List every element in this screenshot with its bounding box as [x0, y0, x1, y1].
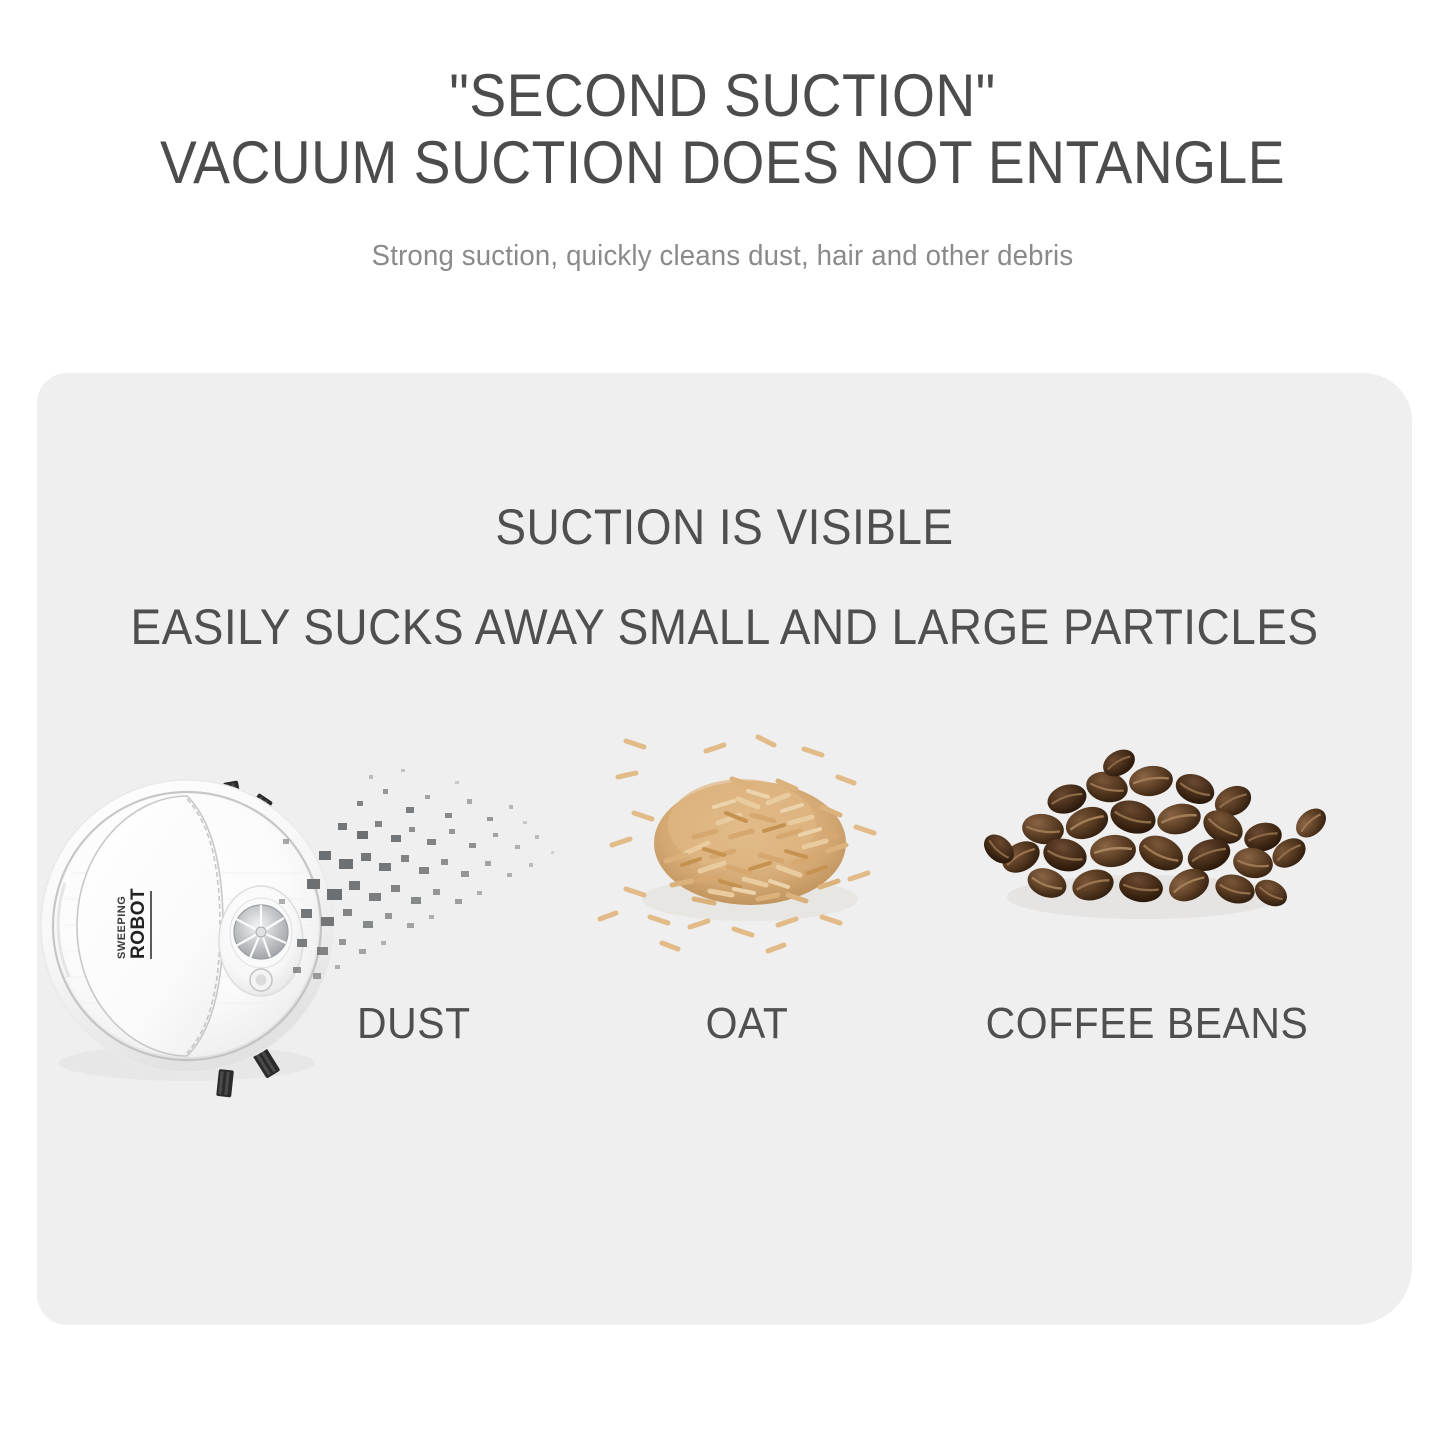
specimen-coffee: COFFEE BEANS — [947, 703, 1347, 1123]
panel-heading: SUCTION IS VISIBLE EASILY SUCKS AWAY SMA… — [37, 373, 1412, 656]
dust-cloud — [279, 769, 554, 979]
panel-heading-secondary: EASILY SUCKS AWAY SMALL AND LARGE PARTIC… — [92, 556, 1357, 656]
coffee-bean-group — [978, 744, 1331, 911]
headline-secondary: VACUUM SUCTION DOES NOT ENTANGLE — [58, 129, 1387, 196]
oat-pile-art — [582, 703, 912, 1003]
dust-particles-art — [57, 703, 597, 1003]
specimen-dust: DUST — [57, 703, 597, 1123]
specimen-label-coffee: COFFEE BEANS — [961, 999, 1333, 1049]
header: "SECOND SUCTION" VACUUM SUCTION DOES NOT… — [0, 0, 1445, 273]
title-block: "SECOND SUCTION" VACUUM SUCTION DOES NOT… — [0, 0, 1445, 273]
specimen-label-oat: OAT — [594, 999, 901, 1049]
headline-primary: "SECOND SUCTION" — [58, 62, 1387, 129]
specimen-row: DUST — [37, 703, 1412, 1123]
feature-panel: SUCTION IS VISIBLE EASILY SUCKS AWAY SMA… — [37, 373, 1412, 1325]
specimen-oat: OAT — [582, 703, 912, 1123]
coffee-beans-art — [947, 703, 1347, 1003]
specimen-label-dust: DUST — [79, 999, 665, 1049]
panel-heading-primary: SUCTION IS VISIBLE — [92, 373, 1357, 556]
subheadline: Strong suction, quickly cleans dust, hai… — [36, 240, 1409, 273]
